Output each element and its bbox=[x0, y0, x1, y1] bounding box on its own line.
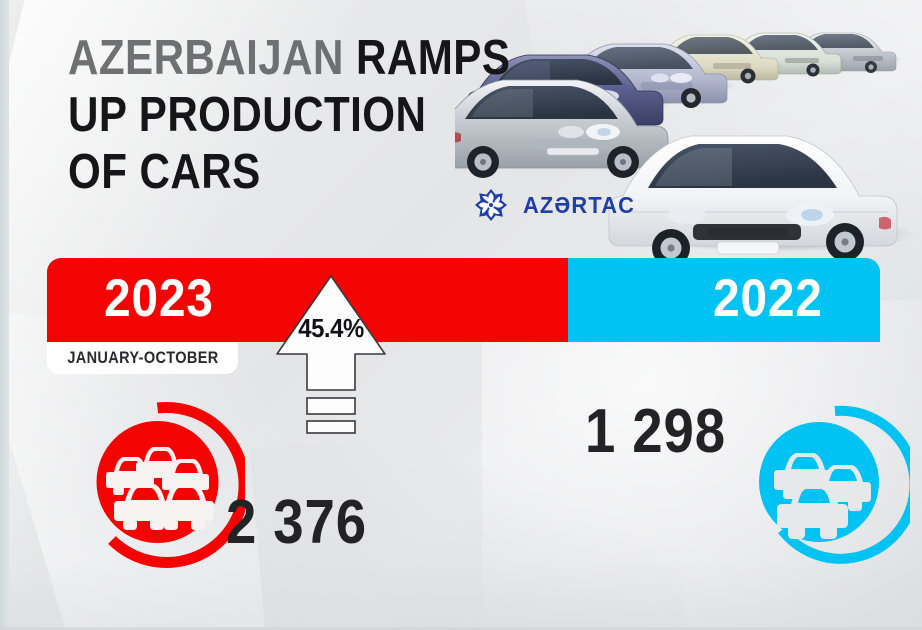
up-arrow-icon bbox=[272, 272, 390, 437]
period-label: JANUARY-OCTOBER bbox=[67, 349, 218, 368]
headline-word-country: AZERBAIJAN bbox=[68, 31, 344, 85]
azertac-logo: AZƏRTAC bbox=[470, 184, 641, 226]
year-label-2022: 2022 bbox=[713, 268, 823, 329]
headline-line-3: OF CARS bbox=[68, 148, 438, 196]
traffic-cars-icon-2022 bbox=[735, 398, 910, 573]
infographic-canvas: AZERBAIJAN RAMPS UP PRODUCTION OF CARS bbox=[0, 0, 922, 630]
value-2022: 1 298 bbox=[585, 396, 726, 467]
headline-word-ramps: RAMPS bbox=[356, 31, 510, 85]
traffic-cars-icon-2023 bbox=[70, 398, 245, 573]
page-title: AZERBAIJAN RAMPS UP PRODUCTION OF CARS bbox=[68, 34, 438, 205]
azertac-logo-text: AZƏRTAC bbox=[523, 192, 635, 219]
period-tab: JANUARY-OCTOBER bbox=[47, 342, 238, 374]
azertac-rosette-icon bbox=[470, 184, 512, 226]
left-edge-strip bbox=[0, 0, 9, 630]
value-2023: 2 376 bbox=[226, 487, 367, 558]
headline-line-2: UP PRODUCTION bbox=[68, 91, 438, 139]
year-label-2023: 2023 bbox=[104, 268, 214, 329]
change-percent-label: 45.4% bbox=[277, 313, 386, 344]
